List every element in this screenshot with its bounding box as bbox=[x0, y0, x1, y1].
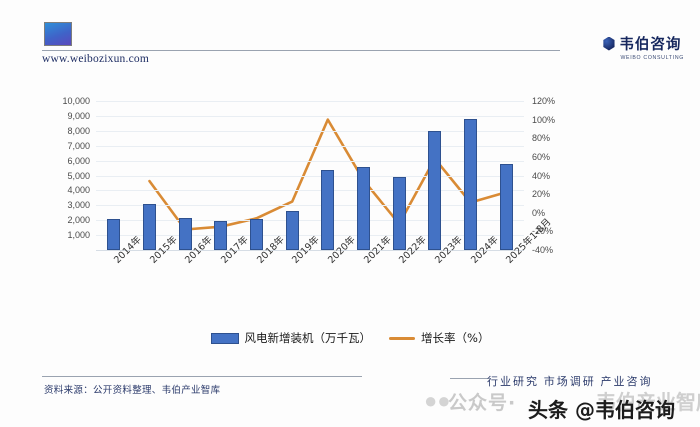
legend-swatch-bar-icon bbox=[211, 333, 239, 344]
bar-2025年1-8月[interactable] bbox=[500, 164, 513, 250]
y-tick-right: -40% bbox=[532, 245, 553, 255]
header-divider bbox=[42, 50, 560, 51]
gridline bbox=[96, 131, 524, 132]
wechat-icon: ●● bbox=[424, 388, 451, 414]
y-tick-left: 9,000 bbox=[34, 111, 90, 121]
gridline bbox=[96, 161, 524, 162]
legend-swatch-line-icon bbox=[389, 337, 415, 340]
brand-name-cn: 韦伯咨询 bbox=[619, 33, 681, 54]
hexagon-dot-icon bbox=[602, 37, 615, 51]
gridline bbox=[96, 190, 524, 191]
blue-square-logo-icon bbox=[44, 22, 72, 46]
y-tick-right: 120% bbox=[532, 96, 555, 106]
y-tick-left: 5,000 bbox=[34, 171, 90, 181]
source-note: 资料来源：公开资料整理、韦伯产业智库 bbox=[44, 382, 220, 396]
bar-2020年[interactable] bbox=[321, 170, 334, 250]
gridline bbox=[96, 101, 524, 102]
y-tick-right: 60% bbox=[532, 152, 550, 162]
gridline bbox=[96, 205, 524, 206]
watermark-wechat: 公众号· bbox=[448, 388, 516, 415]
gridline bbox=[96, 116, 524, 117]
bar-2014年[interactable] bbox=[107, 219, 120, 250]
footer-divider bbox=[42, 376, 362, 377]
slide-canvas: www.weibozixun.com 韦伯咨询 WEIBO CONSULTING… bbox=[0, 0, 700, 427]
legend-label-line: 增长率（%） bbox=[421, 330, 489, 346]
bar-2018年[interactable] bbox=[250, 219, 263, 250]
y-tick-right: 40% bbox=[532, 171, 550, 181]
bar-2022年[interactable] bbox=[393, 177, 406, 250]
legend-label-bars: 风电新增装机（万千瓦） bbox=[245, 330, 372, 346]
plot-region bbox=[96, 101, 524, 250]
y-tick-left: 7,000 bbox=[34, 141, 90, 151]
gridline bbox=[96, 176, 524, 177]
bar-2024年[interactable] bbox=[464, 119, 477, 250]
legend-item-bars[interactable]: 风电新增装机（万千瓦） bbox=[211, 330, 372, 346]
y-tick-left: 6,000 bbox=[34, 156, 90, 166]
gridline bbox=[96, 220, 524, 221]
y-tick-left: 2,000 bbox=[34, 215, 90, 225]
footer-divider-right bbox=[450, 378, 490, 379]
gridline bbox=[96, 146, 524, 147]
y-tick-right: 100% bbox=[532, 115, 555, 125]
watermark-toutiao: 头条 @韦伯咨询 bbox=[528, 394, 675, 423]
brand-name-en: WEIBO CONSULTING bbox=[620, 55, 684, 61]
y-tick-right: 80% bbox=[532, 133, 550, 143]
bar-2023年[interactable] bbox=[428, 131, 441, 250]
legend-item-line[interactable]: 增长率（%） bbox=[389, 330, 489, 346]
bar-2021年[interactable] bbox=[357, 167, 370, 250]
y-tick-right: 20% bbox=[532, 189, 550, 199]
bar-2016年[interactable] bbox=[179, 218, 192, 250]
brand-block: 韦伯咨询 WEIBO CONSULTING bbox=[602, 33, 684, 61]
y-tick-left: 8,000 bbox=[34, 126, 90, 136]
bar-2015年[interactable] bbox=[143, 204, 156, 250]
chart-legend: 风电新增装机（万千瓦） 增长率（%） bbox=[0, 330, 700, 346]
y-tick-left: 4,000 bbox=[34, 185, 90, 195]
site-url: www.weibozixun.com bbox=[42, 53, 149, 65]
y-tick-left: 10,000 bbox=[34, 96, 90, 106]
bar-2019年[interactable] bbox=[286, 211, 299, 250]
chart-area: 10,0009,0008,0007,0006,0005,0004,0003,00… bbox=[0, 88, 700, 318]
y-tick-left: 1,000 bbox=[34, 230, 90, 240]
y-tick-left: 3,000 bbox=[34, 200, 90, 210]
